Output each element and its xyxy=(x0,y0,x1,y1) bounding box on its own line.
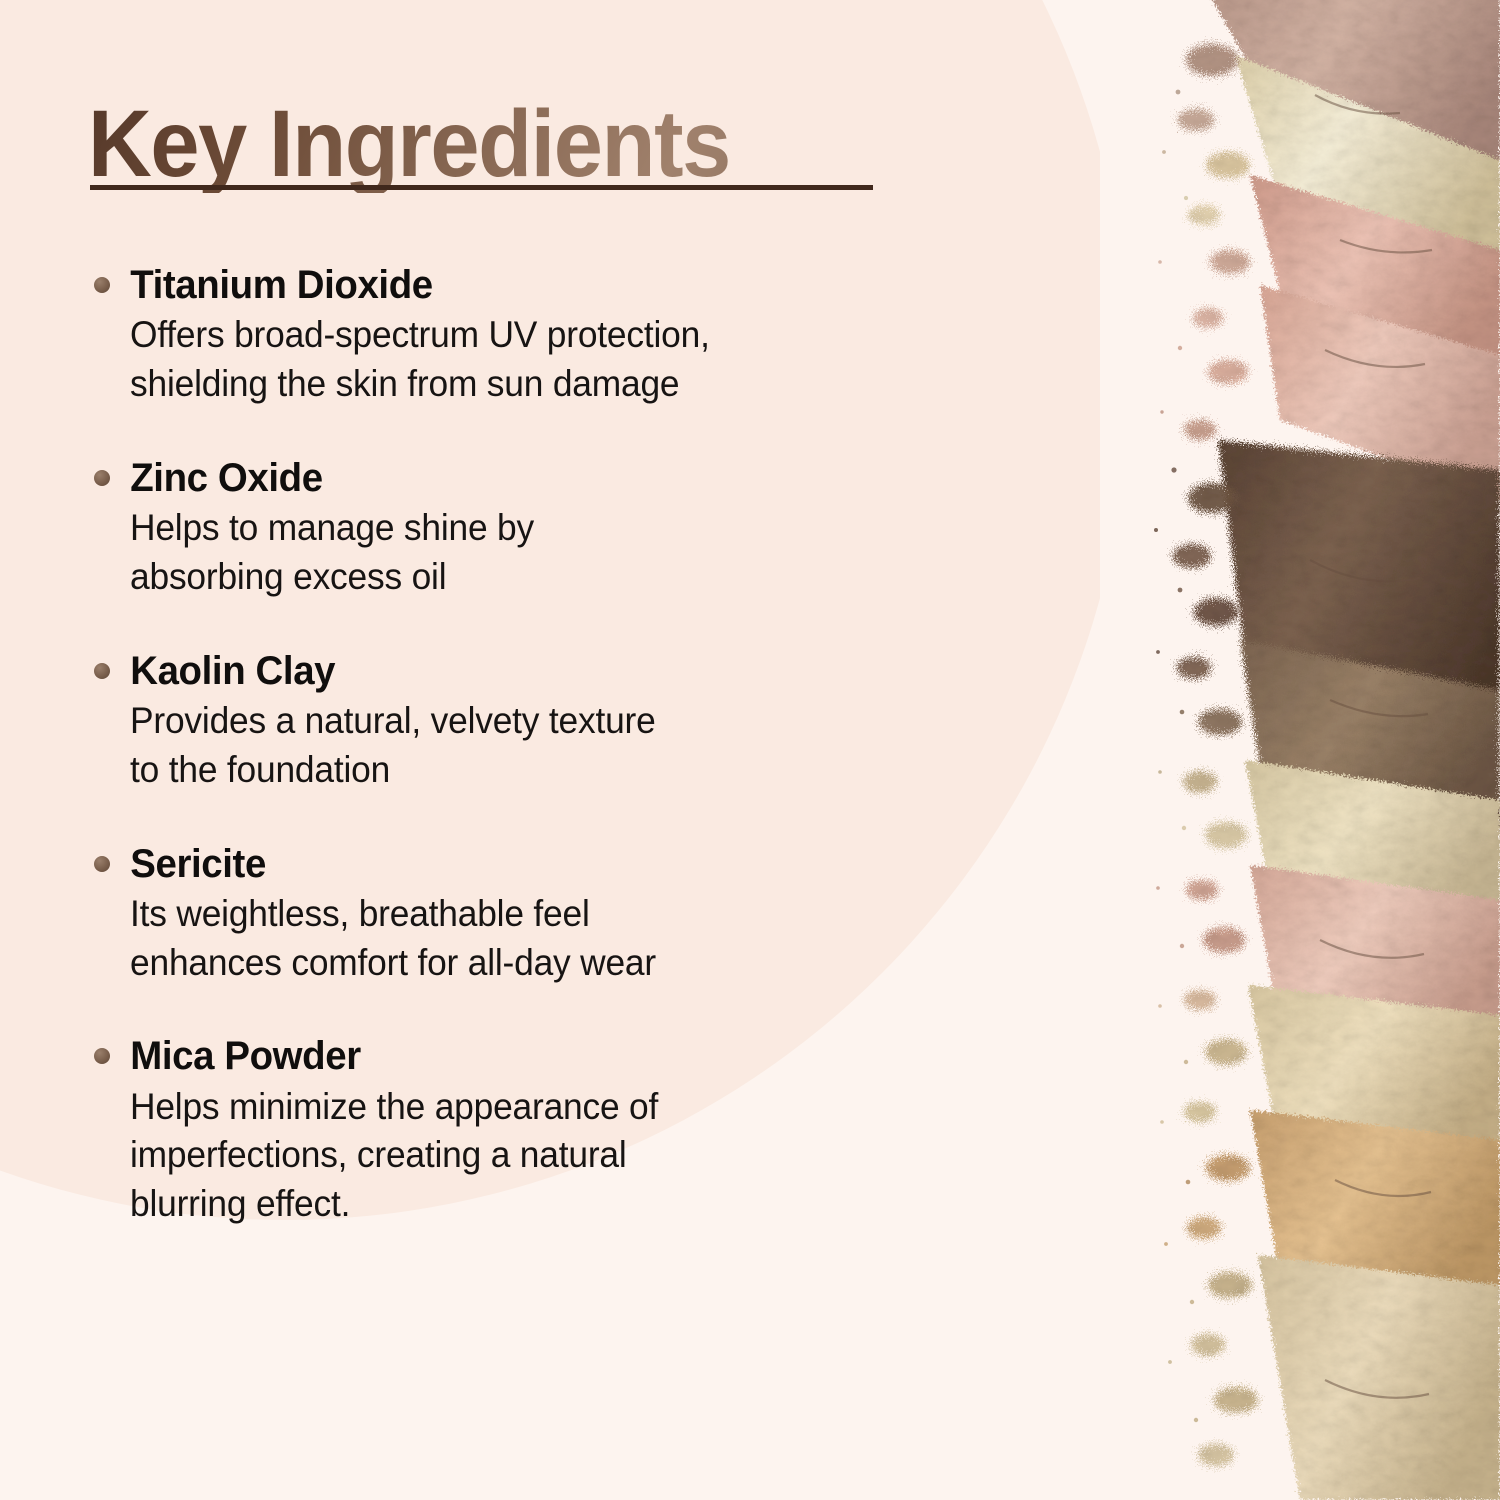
ingredient-description: Its weightless, breathable feel enhances… xyxy=(88,890,948,988)
ingredients-list: Titanium Dioxide Offers broad-spectrum U… xyxy=(88,262,988,1229)
ingredient-name: Titanium Dioxide xyxy=(88,262,952,309)
list-item: Kaolin Clay Provides a natural, velvety … xyxy=(88,648,988,795)
ingredient-description: Helps minimize the appearance of imperfe… xyxy=(88,1083,948,1229)
powder-swatch-image xyxy=(1100,0,1500,1500)
list-item: Titanium Dioxide Offers broad-spectrum U… xyxy=(88,262,988,409)
title-underline xyxy=(90,185,873,190)
content-column: Key Ingredients Titanium Dioxide Offers … xyxy=(0,0,1060,1500)
list-item: Zinc Oxide Helps to manage shine by abso… xyxy=(88,455,988,602)
ingredient-description: Provides a natural, velvety texture to t… xyxy=(88,697,948,795)
ingredient-description: Helps to manage shine by absorbing exces… xyxy=(88,504,948,602)
page-title: Key Ingredients xyxy=(88,96,832,193)
list-item: Sericite Its weightless, breathable feel… xyxy=(88,841,988,988)
list-item: Mica Powder Helps minimize the appearanc… xyxy=(88,1033,988,1229)
ingredient-name: Kaolin Clay xyxy=(88,648,952,695)
key-ingredients-infographic: Key Ingredients Titanium Dioxide Offers … xyxy=(0,0,1500,1500)
ingredient-name: Zinc Oxide xyxy=(88,455,952,502)
ingredient-description: Offers broad-spectrum UV protection, shi… xyxy=(88,311,948,409)
ingredient-name: Mica Powder xyxy=(88,1033,952,1080)
page-title-wrapper: Key Ingredients xyxy=(88,96,888,193)
ingredient-name: Sericite xyxy=(88,841,952,888)
